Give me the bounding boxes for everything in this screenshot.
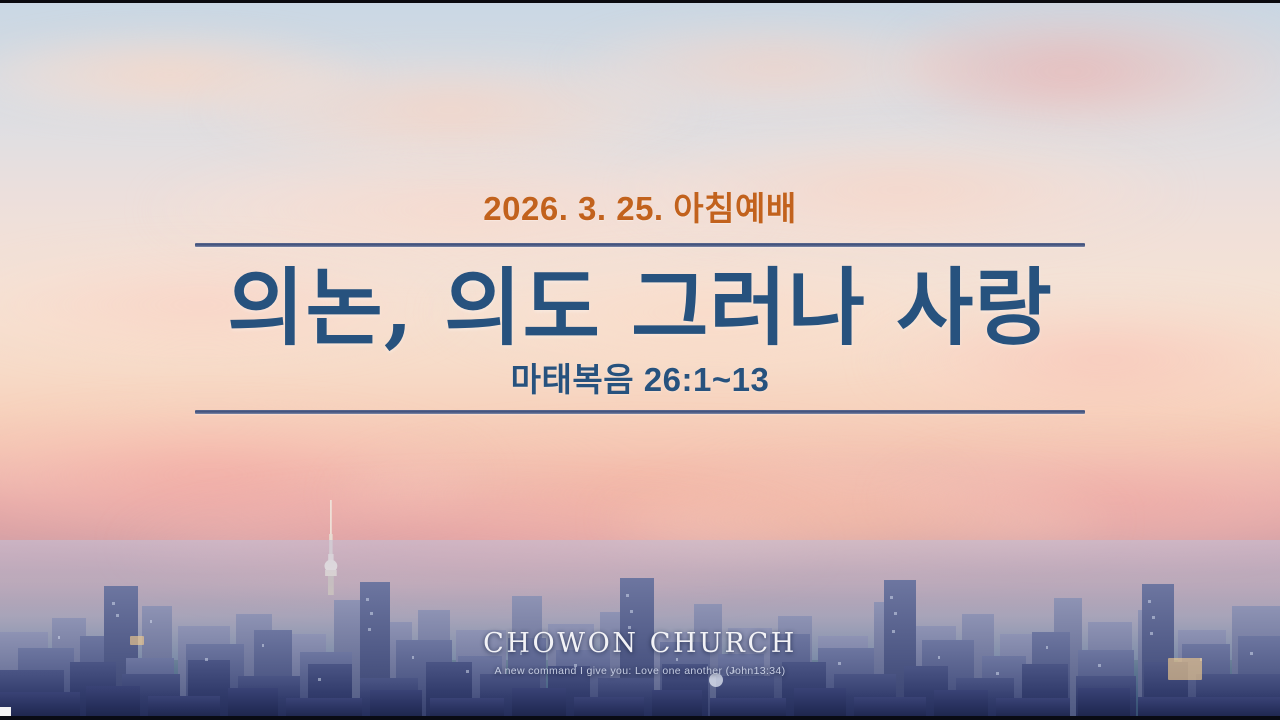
divider-line-bottom bbox=[195, 410, 1085, 414]
sermon-title: 의논, 의도 그러나 사랑 bbox=[0, 259, 1280, 356]
scripture-reference: 마태복음 26:1~13 bbox=[0, 360, 1280, 400]
namsan-tower-icon bbox=[318, 500, 344, 595]
top-edge-bar bbox=[0, 0, 1280, 3]
service-date: 2026. 3. 25. 아침예배 bbox=[0, 190, 1280, 229]
title-block: 2026. 3. 25. 아침예배 의논, 의도 그러나 사랑 마태복음 26:… bbox=[0, 190, 1280, 414]
divider-line-top bbox=[195, 243, 1085, 247]
sermon-title-slide: 2026. 3. 25. 아침예배 의논, 의도 그러나 사랑 마태복음 26:… bbox=[0, 0, 1280, 720]
bottom-left-corner-mark bbox=[0, 707, 11, 716]
bottom-edge-bar bbox=[0, 716, 1280, 720]
